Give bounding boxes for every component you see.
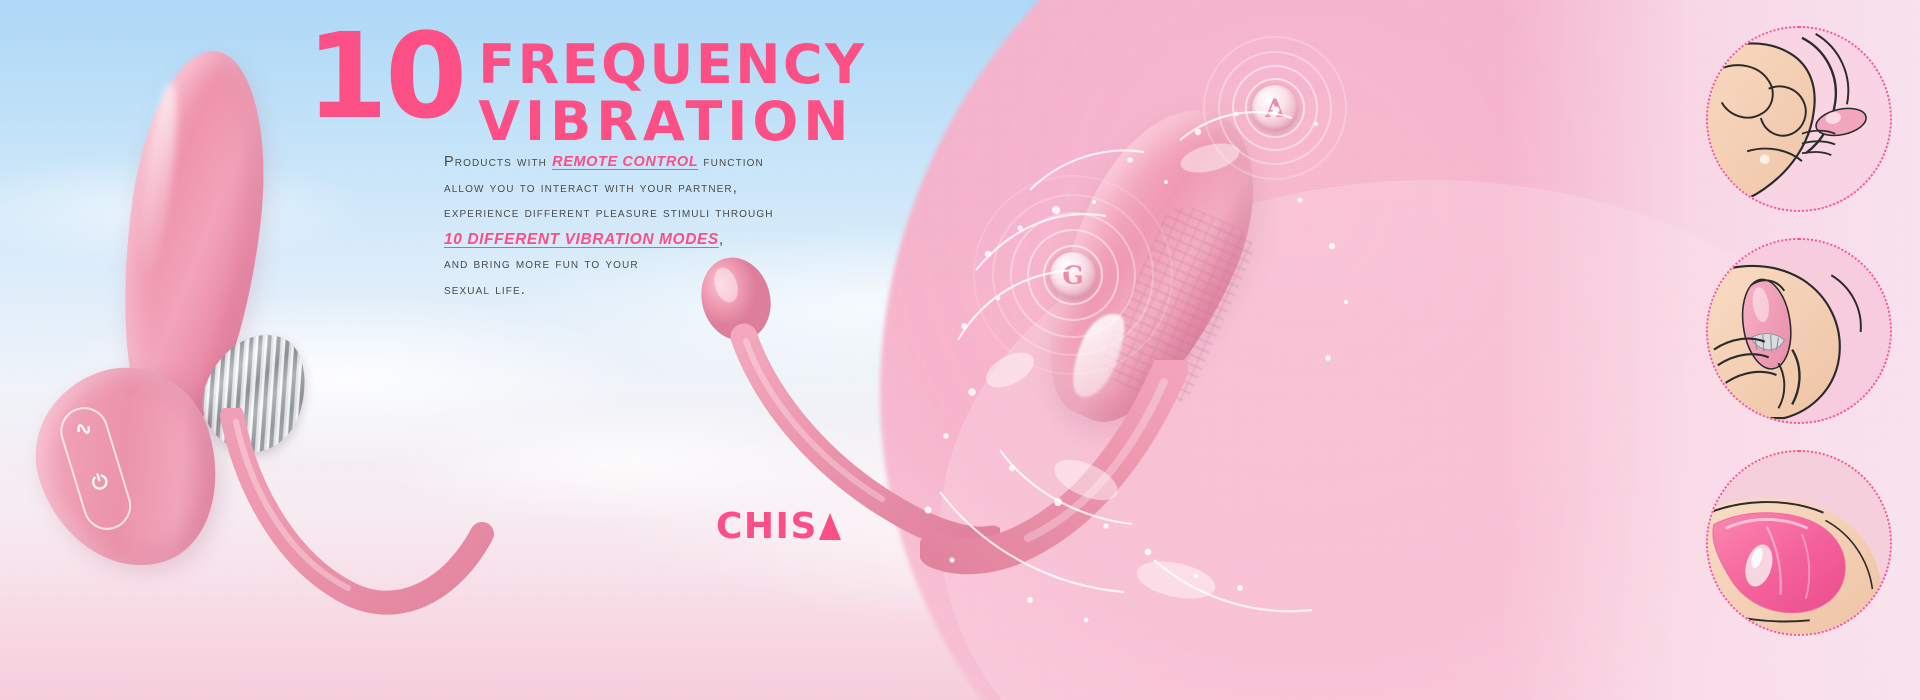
emphasis-vibration-modes: 10 DIFFERENT VIBRATION MODES [444,231,719,248]
paragraph-line-1-prefix: Products with [444,154,552,170]
headline: 10 FREQUENCY VIBRATION [306,22,867,150]
usage-circle-handheld-stimulation[interactable] [1706,238,1892,424]
headline-number: 10 [306,22,464,131]
headline-words: FREQUENCY VIBRATION [478,22,866,150]
product-button-a[interactable]: A [1252,85,1298,131]
paragraph-line-1: Products with REMOTE CONTROL function [444,150,884,176]
product-button-g[interactable]: G [1050,252,1096,298]
paragraph-line-2: allow you to interact with your partner, [444,176,884,202]
product-banner: ∿ ⏻ [0,0,1920,700]
button-g-label: G [1062,263,1083,288]
main-product-lower-curve [920,360,1340,660]
description-paragraph: Products with REMOTE CONTROL function al… [444,150,884,303]
paragraph-line-4: 10 DIFFERENT VIBRATION MODES, [444,227,884,253]
power-icon: ⏻ [90,471,111,495]
main-product-display: A G [930,60,1410,640]
egg-vibrator-tail [214,408,514,648]
headline-line-vibration: VIBRATION [478,93,866,150]
paragraph-line-3: experience different pleasure stimuli th… [444,201,884,227]
button-a-label: A [1265,96,1284,121]
brand-logo-text: CHIS [716,506,818,547]
paragraph-line-4-suffix: , [719,231,724,248]
usage-illustrations [1706,12,1906,688]
brand-logo-triangle-a-icon [819,513,841,540]
usage-circle-breast-stimulation[interactable] [1706,26,1892,212]
paragraph-line-1-suffix: function [698,154,764,170]
paragraph-line-5: and bring more fun to your [444,252,884,278]
usage-circle-wearable-panty[interactable] [1706,450,1892,636]
wave-icon: ∿ [73,417,95,441]
emphasis-remote-control: REMOTE CONTROL [552,154,698,170]
brand-logo: CHIS [716,506,841,547]
paragraph-line-6: sexual life. [444,278,884,304]
headline-line-frequency: FREQUENCY [478,36,866,93]
